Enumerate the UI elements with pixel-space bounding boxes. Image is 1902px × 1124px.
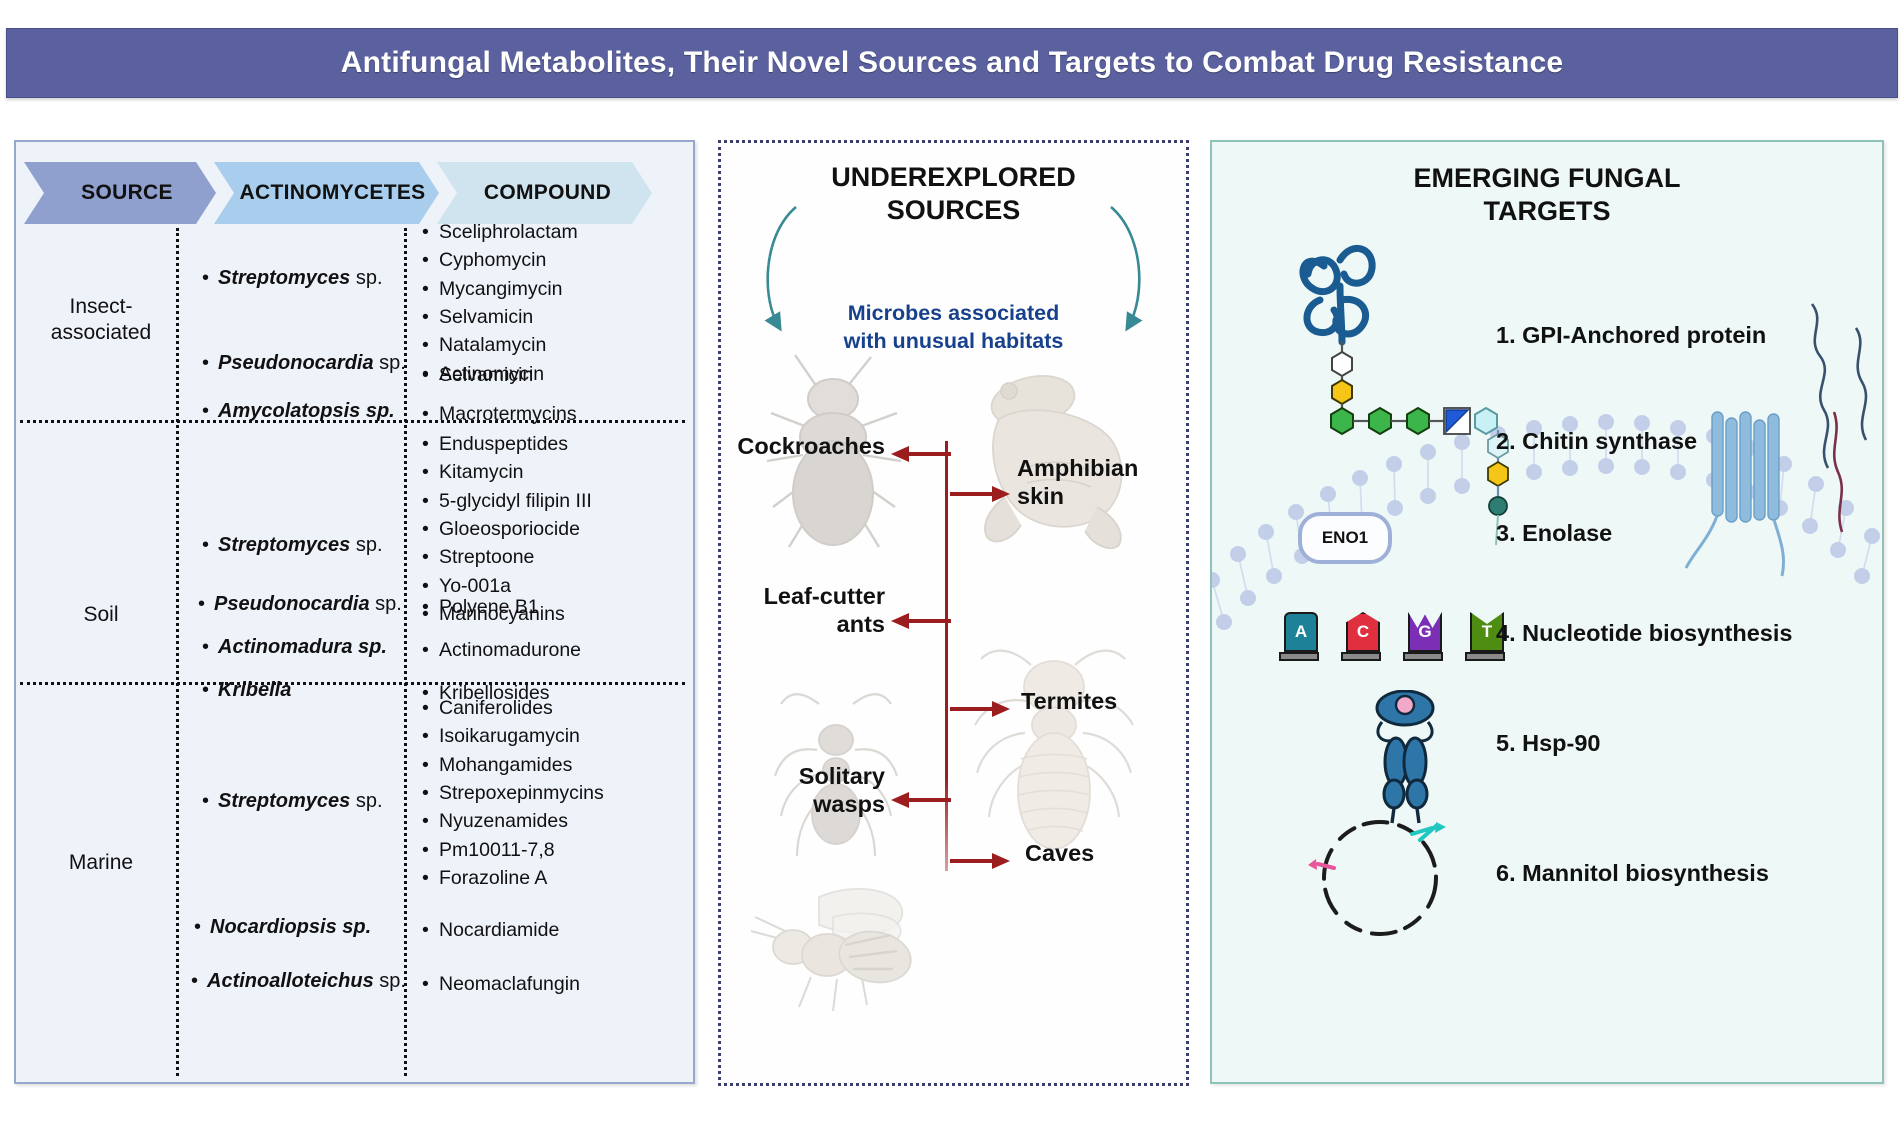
source-label-insect-l1: Insect- — [26, 294, 176, 320]
header-label-compound: COMPOUND — [478, 181, 611, 205]
header-chevron-compound: COMPOUND — [437, 162, 652, 224]
row-divider-soil-marine — [20, 682, 685, 685]
compound-item: Mycangimycin — [422, 275, 578, 303]
genus-marine-actinoalloteichus: •Actinoalloteichus sp. — [191, 970, 406, 993]
amphibian-line2: skin — [1017, 483, 1138, 511]
bullet-icon: • — [202, 352, 218, 375]
mid-panel-subtitle: Microbes associated with unusual habitat… — [721, 300, 1186, 356]
header-label-actinomycetes: ACTINOMYCETES — [228, 181, 426, 205]
compound-item: Strepoxepinmycins — [422, 779, 604, 807]
compound-item: Cyphomycin — [422, 246, 578, 274]
arrow-left-solitary-wasps — [889, 789, 951, 811]
compound-item: Nyuzenamides — [422, 807, 604, 835]
source-cell-soil: Soil — [26, 602, 176, 628]
compound-item: 5-glycidyl filipin III — [422, 487, 592, 515]
bullet-icon: • — [202, 790, 218, 813]
target-label-enolase: 3. Enolase — [1496, 520, 1612, 547]
glycan-white-hexagon — [1332, 352, 1352, 376]
arrow-left-leafcutter-ants — [889, 610, 951, 632]
bullet-icon: • — [191, 970, 207, 993]
arrow-right-caves — [950, 850, 1012, 872]
glycan-green-hexagon-1 — [1331, 408, 1353, 434]
compound-item: Actinomadurone — [422, 636, 581, 664]
figure-title-banner: Antifungal Metabolites, Their Novel Sour… — [6, 28, 1898, 98]
compound-item: Neomaclafungin — [422, 970, 580, 998]
base-stand-t — [1465, 652, 1505, 661]
leafcutter-line2: ants — [721, 611, 885, 639]
compound-item: Isoikarugamycin — [422, 722, 604, 750]
compound-item: Enduspeptides — [422, 430, 592, 458]
fungal-targets-panel: EMERGING FUNGAL TARGETS — [1210, 140, 1884, 1084]
compound-item: Macrotermycins — [422, 400, 577, 428]
right-title-line1: EMERGING FUNGAL — [1212, 162, 1882, 195]
bullet-icon: • — [202, 636, 218, 659]
gpi-anchor-illustration — [1290, 230, 1520, 450]
compound-item: Gloeosporiocide — [422, 515, 592, 543]
plasmid-marker-pink — [1308, 859, 1334, 870]
source-label-insect-l2: associated — [26, 320, 176, 346]
base-stand-c — [1341, 652, 1381, 661]
header-chevron-actinomycetes: ACTINOMYCETES — [214, 162, 439, 224]
bullet-icon: • — [202, 679, 218, 702]
glycan-yellow-hexagon-lower — [1488, 462, 1508, 486]
glycan-green-hexagon-3 — [1407, 408, 1429, 434]
chitin-chain — [1812, 304, 1866, 532]
nucleotide-base-a: A — [1284, 612, 1318, 661]
genus-insect-amycolatopsis: •Amycolatopsis sp. — [202, 400, 395, 423]
compound-item: Caniferolides — [422, 694, 604, 722]
genus-marine-nocardiopsis: •Nocardiopsis sp. — [194, 916, 371, 939]
source-label-solitary-wasps: Solitary wasps — [721, 763, 885, 818]
base-stand-g — [1403, 652, 1443, 661]
header-chevron-source: SOURCE — [24, 162, 216, 224]
table-header-chevrons: SOURCE ACTINOMYCETES COMPOUND — [24, 162, 652, 224]
base-cap-c: C — [1346, 612, 1380, 652]
compound-item: Forazoline A — [422, 864, 604, 892]
compound-item: Mohangamides — [422, 751, 604, 779]
nucleotide-base-c: C — [1346, 612, 1380, 661]
compound-item: Selvamicin — [422, 303, 578, 331]
header-label-source: SOURCE — [67, 181, 173, 205]
mid-subtitle-line1: Microbes associated — [721, 300, 1186, 328]
base-letter-t: T — [1482, 622, 1492, 642]
compound-item: Pm10011-7,8 — [422, 836, 604, 864]
base-cap-g: G — [1408, 612, 1442, 652]
bullet-icon: • — [194, 916, 210, 939]
sources-table-panel: SOURCE ACTINOMYCETES COMPOUND Insect- as… — [14, 140, 695, 1084]
source-label-soil: Soil — [26, 602, 176, 628]
target-label-hsp90: 5. Hsp-90 — [1496, 730, 1601, 757]
leafcutter-line1: Leaf-cutter — [721, 583, 885, 611]
bullet-icon: • — [202, 267, 218, 290]
genus-insect-streptomyces: •Streptomyces sp. — [202, 267, 383, 290]
solitary-wasps-line2: wasps — [721, 791, 885, 819]
chitin-synthase-protein — [1686, 412, 1784, 576]
genus-insect-pseudonocardia: •Pseudonocardia sp. — [202, 352, 406, 375]
compound-item: Selvamicin — [422, 361, 533, 389]
column-divider-source-genus — [176, 228, 179, 1076]
compound-item: Streptoone — [422, 543, 592, 571]
source-cell-marine: Marine — [26, 850, 176, 876]
target-label-mannitol-biosynthesis: 6. Mannitol biosynthesis — [1496, 860, 1769, 887]
source-label-cockroaches: Cockroaches — [721, 433, 885, 461]
compound-list-soil-pseudonocardia: Polyene B1 — [422, 593, 539, 621]
compound-list-marine-nocardiopsis: Nocardiamide — [422, 916, 559, 944]
arrow-right-amphibian-skin — [950, 483, 1012, 505]
bullet-icon: • — [202, 534, 218, 557]
underexplored-sources-panel: UNDEREXPLORED SOURCES Microbes associate… — [718, 140, 1189, 1086]
base-letter-a: A — [1295, 622, 1307, 642]
compound-item: Polyene B1 — [422, 593, 539, 621]
genus-soil-streptomyces: •Streptomyces sp. — [202, 534, 383, 557]
compound-item: Nocardiamide — [422, 916, 559, 944]
base-letter-g: G — [1418, 622, 1431, 642]
glycan-teal-circle — [1489, 497, 1507, 515]
source-label-leafcutter-ants: Leaf-cutter ants — [721, 583, 885, 638]
right-panel-title: EMERGING FUNGAL TARGETS — [1212, 162, 1882, 228]
compound-item: Natalamycin — [422, 331, 578, 359]
caves-line1: Caves — [1025, 840, 1094, 868]
source-label-caves: Caves — [1025, 840, 1094, 868]
right-title-line2: TARGETS — [1212, 195, 1882, 228]
genus-marine-streptomyces: •Streptomyces sp. — [202, 790, 383, 813]
compound-item: Kitamycin — [422, 458, 592, 486]
base-letter-c: C — [1357, 622, 1369, 642]
genus-soil-pseudonocardia: •Pseudonocardia sp. — [198, 593, 402, 616]
compound-list-marine-actinoalloteichus: Neomaclafungin — [422, 970, 580, 998]
target-label-nucleotide-biosynthesis: 4. Nucleotide biosynthesis — [1496, 620, 1792, 647]
eno1-label: ENO1 — [1322, 528, 1368, 548]
genus-soil-kribella: •Kribella — [202, 679, 291, 702]
termite-illustration — [959, 641, 1149, 866]
cockroaches-line1: Cockroaches — [721, 433, 885, 461]
base-cap-a: A — [1284, 612, 1318, 652]
termites-line1: Termites — [1021, 688, 1117, 716]
compound-item: Sceliphrolactam — [422, 218, 578, 246]
source-cell-insect: Insect- associated — [26, 294, 176, 345]
gpi-protein-loop — [1303, 248, 1372, 342]
plasmid-marker-teal — [1412, 822, 1446, 840]
solitary-wasp-illustration — [741, 873, 941, 1018]
compound-list-insect-amycolatopsis: Macrotermycins — [422, 400, 577, 428]
solitary-wasps-line1: Solitary — [721, 763, 885, 791]
base-stand-a — [1279, 652, 1319, 661]
compound-list-insect-pseudonocardia: Selvamicin — [422, 361, 533, 389]
bullet-icon: • — [198, 593, 214, 616]
page-title: Antifungal Metabolites, Their Novel Sour… — [341, 46, 1564, 80]
arrow-left-cockroaches — [889, 443, 951, 465]
compound-list-marine-streptomyces: Caniferolides Isoikarugamycin Mohangamid… — [422, 694, 604, 893]
glycan-green-hexagon-2 — [1369, 408, 1391, 434]
genus-soil-actinomadura: •Actinomadura sp. — [202, 636, 387, 659]
source-label-marine: Marine — [26, 850, 176, 876]
target-label-gpi-anchored-protein: 1. GPI-Anchored protein — [1496, 322, 1766, 349]
eno1-badge: ENO1 — [1298, 512, 1392, 564]
target-label-chitin-synthase: 2. Chitin synthase — [1496, 428, 1697, 455]
compound-list-soil-actinomadura: Actinomadurone — [422, 636, 581, 664]
source-label-amphibian-skin: Amphibian skin — [1017, 455, 1138, 510]
amphibian-line1: Amphibian — [1017, 455, 1138, 483]
nucleotide-base-g: G — [1408, 612, 1442, 661]
source-label-termites: Termites — [1021, 688, 1117, 716]
arrow-right-termites — [950, 698, 1012, 720]
bullet-icon: • — [202, 400, 218, 423]
mannitol-plasmid-illustration — [1304, 804, 1464, 954]
glycan-yellow-hexagon — [1332, 380, 1352, 404]
